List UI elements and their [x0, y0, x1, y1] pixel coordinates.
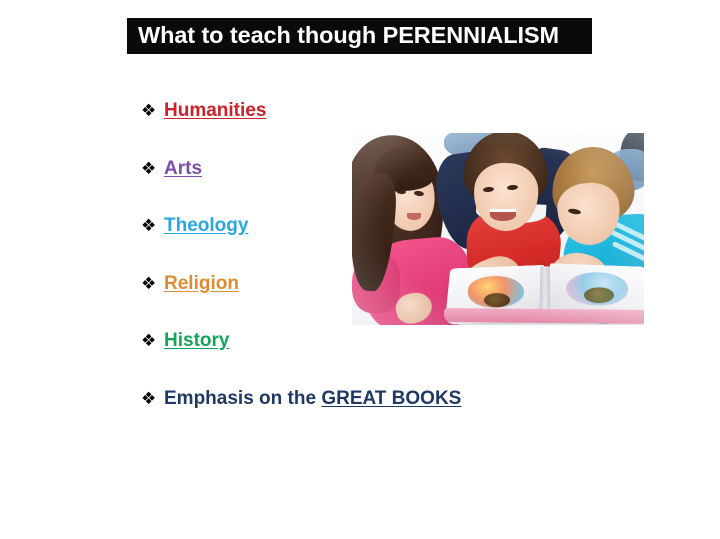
- bullet-label-theology: Theology: [164, 216, 248, 235]
- bullet-label-religion: Religion: [164, 274, 239, 293]
- diamond-floret-bullet-icon: ❖: [141, 276, 164, 293]
- great-books-emphasis: GREAT BOOKS: [321, 388, 461, 409]
- diamond-floret-bullet-icon: ❖: [141, 218, 164, 235]
- boy-middle-smile: [490, 209, 516, 221]
- children-reading-book-photo: [352, 133, 644, 325]
- diamond-floret-bullet-icon: ❖: [141, 161, 164, 178]
- presentation-slide: What to teach though PERENNIALISM ❖ Huma…: [0, 0, 720, 539]
- diamond-floret-bullet-icon: ❖: [141, 391, 164, 408]
- bullet-label-arts: Arts: [164, 159, 202, 178]
- book-illustration-right-detail: [584, 287, 615, 303]
- bullet-label-great-books: Emphasis on the GREAT BOOKS: [164, 389, 461, 408]
- great-books-prefix: Emphasis on the: [164, 388, 321, 409]
- book-illustration-left-detail: [484, 293, 511, 307]
- list-item-great-books: ❖ Emphasis on the GREAT BOOKS: [141, 389, 501, 447]
- diamond-floret-bullet-icon: ❖: [141, 333, 164, 350]
- list-item-history: ❖ History: [141, 331, 501, 389]
- page-title: What to teach though PERENNIALISM: [138, 24, 559, 48]
- bullet-label-humanities: Humanities: [164, 101, 266, 120]
- title-banner: What to teach though PERENNIALISM: [127, 18, 592, 54]
- bullet-label-history: History: [164, 331, 229, 350]
- book-bottom-edge: [444, 308, 644, 324]
- girl-mouth: [407, 213, 421, 220]
- diamond-floret-bullet-icon: ❖: [141, 103, 164, 120]
- photo-canvas: [352, 133, 644, 325]
